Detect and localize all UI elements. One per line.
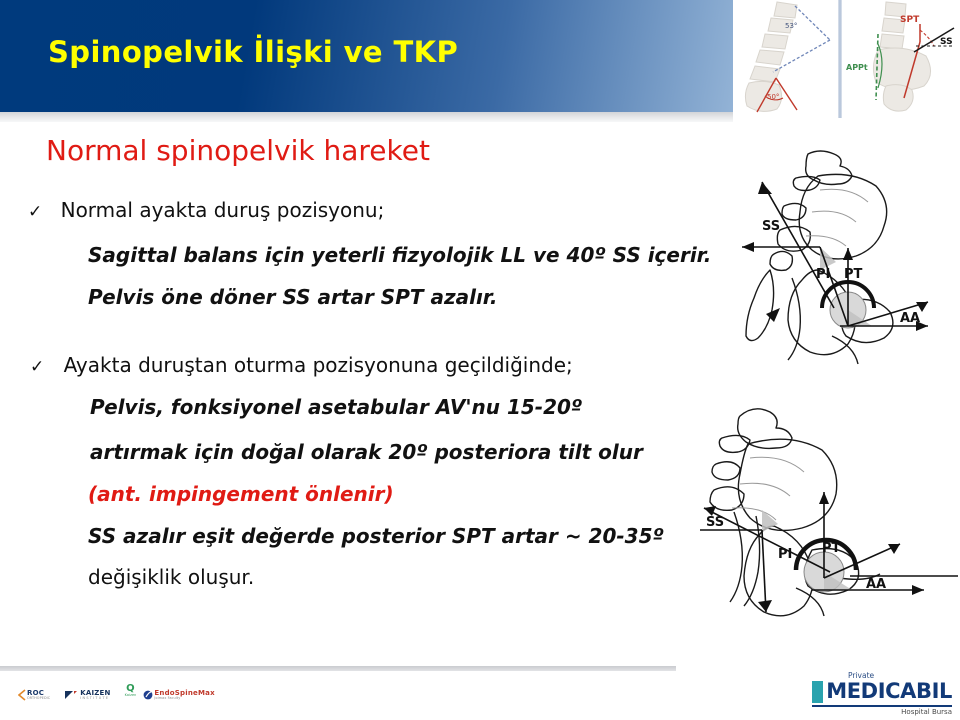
diagram-label-ss: SS xyxy=(762,219,780,234)
diagram-label-ss: SS xyxy=(706,515,724,530)
medicabil-underline xyxy=(812,705,952,707)
thumb-label-ss: SS xyxy=(940,37,953,47)
bullet-heading-1: Normal ayakta duruş pozisyonu; xyxy=(61,198,385,222)
kaizen-q-logo: Q Kaizen xyxy=(125,684,137,706)
seated-pelvis-diagram: SS PI PT AA xyxy=(700,392,958,617)
slide-root: Spinopelvik İlişki ve TKP 53° xyxy=(0,0,960,720)
roc-mark-icon xyxy=(18,689,26,701)
body-line-1-1: Sagittal balans için yeterli fizyolojik … xyxy=(88,243,711,267)
bullet-item-1: ✓ Normal ayakta duruş pozisyonu; xyxy=(28,198,384,222)
body-line-2-1: Pelvis, fonksiyonel asetabular AV'nu 15-… xyxy=(90,395,582,419)
thumb-angle-50: 50° xyxy=(767,93,779,101)
medicabil-sub: Hospital Bursa xyxy=(812,708,952,716)
slide-body: ✓ Normal ayakta duruş pozisyonu; Sagitta… xyxy=(0,0,740,660)
kaizen-logo: KAIZEN I N S T I T U T E xyxy=(64,684,110,706)
spt-appt-ss-thumbnail: APPt SPT SS xyxy=(842,0,960,118)
sagittal-spine-angles-thumbnail: 53° 50° xyxy=(735,0,838,118)
endospinemax-logo: EndoSpineMax Joimax Faculty xyxy=(143,684,214,706)
check-icon: ✓ xyxy=(28,202,42,222)
diagram-label-pt: PT xyxy=(822,541,841,556)
endospinemax-logo-sub: Joimax Faculty xyxy=(154,697,214,700)
diagram-label-pi: PI xyxy=(778,547,792,562)
medicabil-hospital-logo: Private MEDICABIL Hospital Bursa xyxy=(812,672,952,716)
check-icon: ✓ xyxy=(30,357,44,377)
body-line-1-2: Pelvis öne döner SS artar SPT azalır. xyxy=(88,285,497,309)
body-line-2-4: SS azalır eşit değerde posterior SPT art… xyxy=(88,524,664,548)
body-line-2-3: (ant. impingement önlenir) xyxy=(88,482,394,506)
standing-pelvis-diagram: SS PI PT AA xyxy=(700,150,958,365)
diagram-label-aa: AA xyxy=(866,577,886,592)
kaizen-mark-icon xyxy=(64,689,78,701)
body-line-2-5: değişiklik oluşur. xyxy=(88,565,254,589)
roc-logo-sub: ORTHOPEDIC xyxy=(27,697,50,700)
bullet-item-2: ✓ Ayakta duruştan oturma pozisyonuna geç… xyxy=(30,353,573,377)
thumbnail-strip: 53° 50° xyxy=(733,0,960,118)
thumb-label-appt: APPt xyxy=(846,63,868,72)
thumb-angle-53: 53° xyxy=(785,22,797,30)
footer-divider xyxy=(0,666,676,671)
sponsor-logo-strip: ROC ORTHOPEDIC KAIZEN I N S T I T U T E … xyxy=(18,682,208,708)
medicabil-square-mark xyxy=(812,681,823,703)
diagram-label-pt: PT xyxy=(844,267,863,282)
diagram-label-aa: AA xyxy=(900,311,920,326)
thumb-label-spt: SPT xyxy=(900,15,920,25)
kaizen-logo-sub: I N S T I T U T E xyxy=(80,697,110,700)
kaizen-q-logo-sub: Kaizen xyxy=(125,694,137,697)
endospinemax-mark-icon xyxy=(143,690,153,700)
bullet-heading-2: Ayakta duruştan oturma pozisyonuna geçil… xyxy=(64,353,573,377)
diagram-label-pi: PI xyxy=(816,267,830,282)
roc-logo: ROC ORTHOPEDIC xyxy=(18,684,50,706)
body-line-2-2: artırmak için doğal olarak 20º posterior… xyxy=(90,440,643,464)
medicabil-name: MEDICABIL xyxy=(826,681,952,702)
